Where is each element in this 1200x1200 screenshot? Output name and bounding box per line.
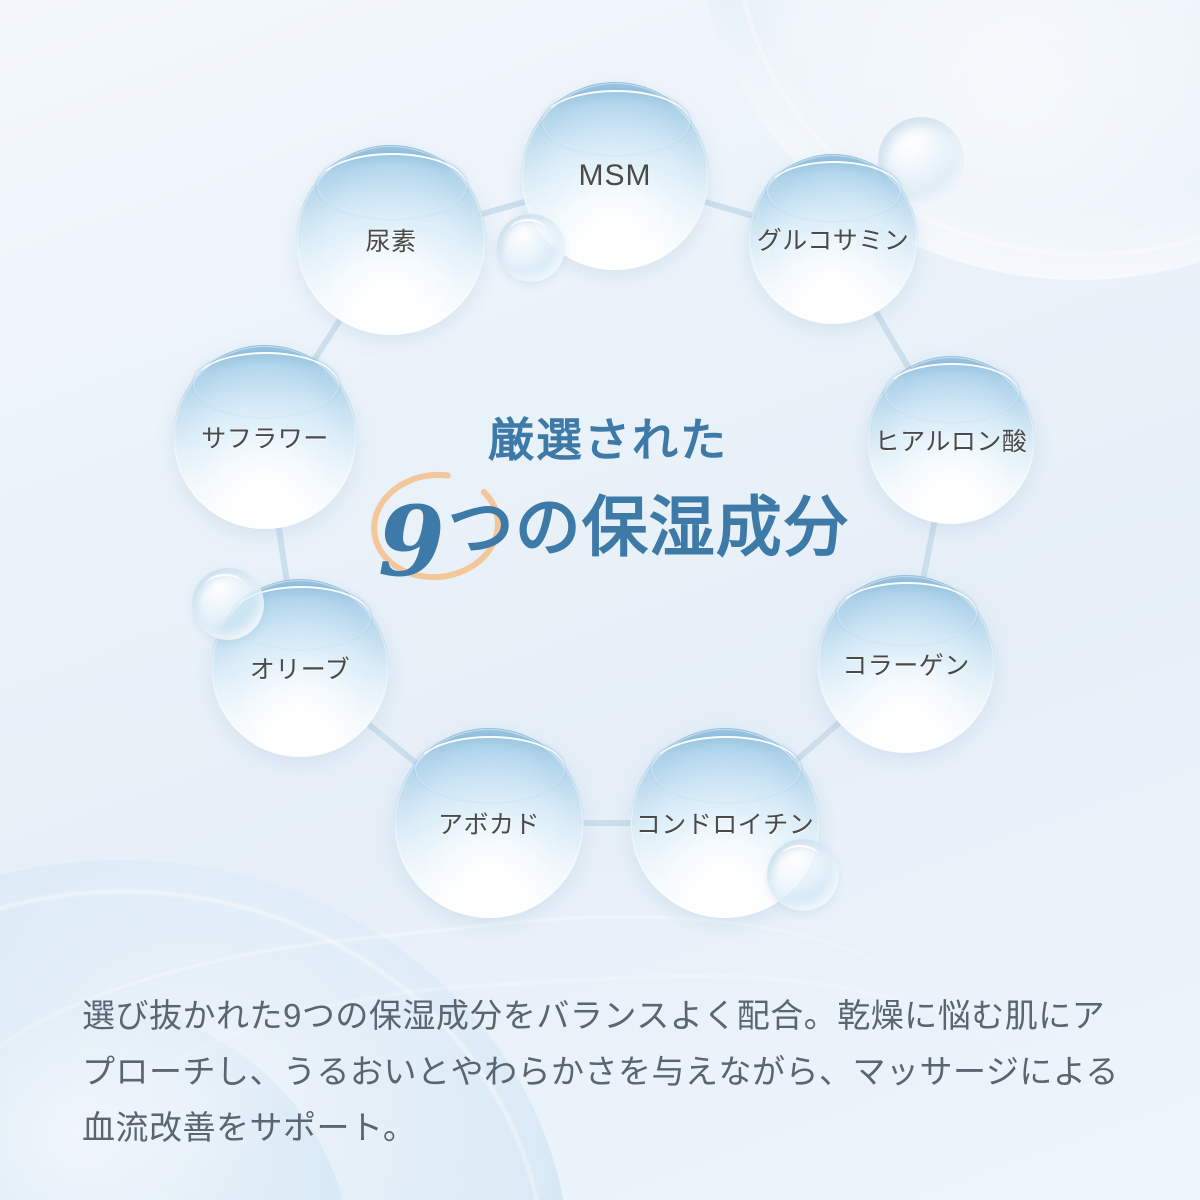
ingredient-bubble-hyaluronic[interactable]: ヒアルロン酸 [867,356,1035,524]
ingredient-label: サフラワー [201,419,329,455]
ingredient-label: コラーゲン [842,646,970,682]
ingredient-label: ヒアルロン酸 [875,422,1028,458]
ingredient-label: MSM [579,159,652,193]
connector-collagen-to-chondroitin [795,721,841,761]
ingredient-label: 尿素 [365,222,416,258]
ingredient-label: グルコサミン [757,221,910,257]
heading-line-1: 厳選された [488,404,728,470]
connector-hyaluronic-to-collagen [923,520,935,578]
ingredient-bubble-collagen[interactable]: コラーゲン [817,575,995,753]
heading-number-nine: 9 [378,505,446,580]
description-paragraph: 選び抜かれた9つの保湿成分をバランスよく配合。乾燥に悩む肌にアプローチし、うるお… [82,988,1122,1156]
ingredient-bubble-olive[interactable]: オリーブ [211,579,389,757]
ingredient-bubble-glucosamine[interactable]: グルコサミン [748,154,918,324]
infographic-canvas: MSMグルコサミンヒアルロン酸コラーゲンコンドロイチンアボカドオリーブサフラワー… [0,0,1200,1200]
ingredient-bubble-chondroitin[interactable]: コンドロイチン [630,728,820,918]
connector-olive-to-safflower [278,526,286,582]
connector-avocado-to-olive [367,723,417,764]
connector-safflower-to-urea [313,318,340,361]
hand-drawn-circle-accent [366,462,506,590]
ingredient-label: コンドロイチン [636,805,815,841]
ingredient-bubble-safflower[interactable]: サフラワー [173,345,357,529]
connector-msm-to-glucosamine [703,202,753,216]
ingredient-bubble-urea[interactable]: 尿素 [296,145,486,335]
ingredient-label: オリーブ [250,650,351,686]
ingredient-bubble-msm[interactable]: MSM [521,82,709,270]
connector-urea-to-msm [480,201,526,214]
connector-glucosamine-to-hyaluronic [875,311,909,370]
ingredient-bubble-avocado[interactable]: アボカド [394,728,584,918]
center-heading-group: 厳選された 9 つの保湿成分 [370,404,850,594]
heading-line-2: 9 つの保湿成分 [378,474,850,570]
ingredient-label: アボカド [438,805,540,841]
heading-line-2-rest: つの保湿成分 [448,474,850,570]
